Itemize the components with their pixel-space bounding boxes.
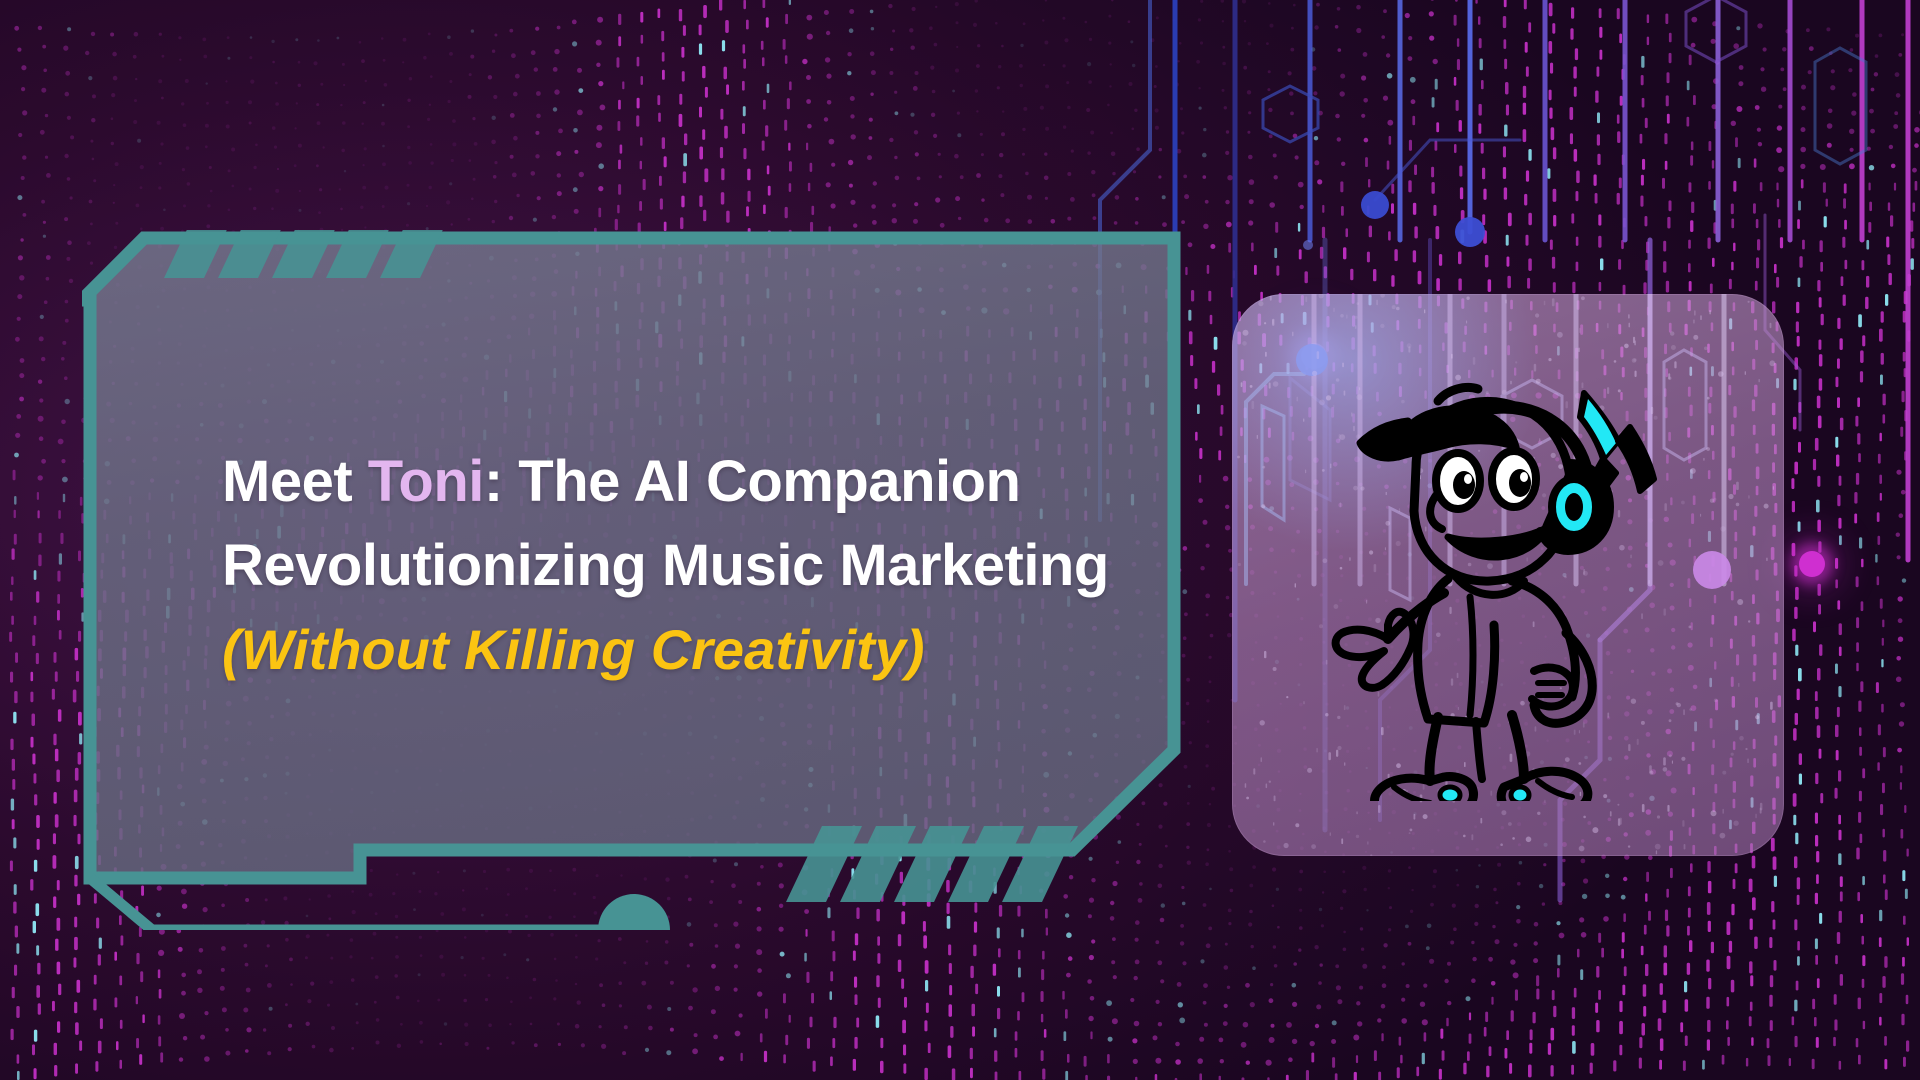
card-speckle bbox=[1330, 832, 1331, 836]
card-speckle bbox=[1295, 583, 1296, 587]
card-speckle bbox=[1628, 845, 1630, 847]
circuit-node bbox=[1361, 191, 1389, 219]
card-speckle bbox=[1260, 720, 1265, 725]
card-speckle bbox=[1262, 466, 1265, 469]
card-speckle bbox=[1656, 850, 1657, 854]
card-speckle bbox=[1505, 300, 1506, 304]
card-speckle bbox=[1770, 323, 1772, 329]
mascot-leg-left bbox=[1429, 717, 1438, 781]
card-speckle bbox=[1694, 310, 1696, 315]
card-speckle bbox=[1265, 352, 1267, 357]
card-speckle bbox=[1745, 748, 1747, 750]
headline-line-2: Revolutionizing Music Marketing bbox=[222, 524, 1182, 608]
card-speckle bbox=[1340, 314, 1344, 318]
card-speckle bbox=[1657, 815, 1660, 818]
card-speckle bbox=[1261, 504, 1265, 508]
card-speckle bbox=[1355, 325, 1356, 329]
card-speckle bbox=[1736, 482, 1739, 490]
card-speckle bbox=[1700, 315, 1702, 320]
circuit-trace bbox=[1375, 140, 1520, 200]
card-speckle bbox=[1617, 804, 1619, 806]
card-speckle bbox=[1423, 814, 1428, 819]
card-speckle bbox=[1711, 810, 1717, 816]
card-speckle bbox=[1766, 558, 1767, 561]
card-speckle bbox=[1764, 504, 1769, 509]
card-speckle bbox=[1243, 330, 1249, 336]
headline-block: Meet Toni: The AI Companion Revolutioniz… bbox=[222, 440, 1182, 692]
card-speckle bbox=[1240, 835, 1242, 840]
card-speckle bbox=[1232, 307, 1234, 314]
card-speckle bbox=[1376, 300, 1378, 306]
card-speckle bbox=[1274, 796, 1276, 802]
card-speckle bbox=[1776, 315, 1781, 320]
card-speckle bbox=[1592, 827, 1598, 833]
card-speckle bbox=[1629, 323, 1631, 328]
card-speckle bbox=[1747, 759, 1749, 764]
card-speckle bbox=[1579, 846, 1585, 852]
card-speckle bbox=[1357, 811, 1358, 814]
card-speckle bbox=[1548, 358, 1551, 361]
card-speckle bbox=[1269, 383, 1271, 389]
card-speckle bbox=[1466, 321, 1467, 324]
card-speckle bbox=[1755, 715, 1759, 719]
card-speckle bbox=[1722, 809, 1724, 814]
shoe-light-right bbox=[1511, 787, 1529, 801]
card-speckle bbox=[1342, 363, 1344, 368]
card-speckle bbox=[1333, 308, 1334, 312]
card-speckle bbox=[1341, 838, 1343, 844]
headline-line1-suffix: : The AI Companion bbox=[484, 449, 1021, 514]
card-speckle bbox=[1500, 843, 1503, 846]
card-speckle bbox=[1273, 667, 1277, 671]
card-speckle bbox=[1378, 805, 1381, 813]
card-speckle bbox=[1305, 297, 1307, 303]
card-speckle bbox=[1501, 810, 1506, 815]
card-speckle bbox=[1241, 382, 1243, 387]
card-speckle bbox=[1655, 844, 1661, 850]
card-speckle bbox=[1409, 832, 1411, 834]
circuit-node bbox=[1455, 217, 1485, 247]
card-speckle bbox=[1245, 783, 1247, 788]
card-speckle bbox=[1579, 328, 1581, 333]
headline-line-3: (Without Killing Creativity) bbox=[222, 608, 1182, 692]
card-speckle bbox=[1257, 435, 1258, 439]
card-speckle bbox=[1557, 332, 1563, 338]
card-speckle bbox=[1583, 816, 1586, 819]
card-speckle bbox=[1451, 354, 1453, 359]
card-speckle bbox=[1266, 784, 1268, 789]
card-speckle bbox=[1515, 361, 1517, 363]
card-speckle bbox=[1737, 599, 1743, 605]
card-speckle bbox=[1739, 736, 1744, 741]
card-speckle bbox=[1642, 804, 1645, 812]
card-speckle bbox=[1466, 297, 1469, 300]
card-speckle bbox=[1770, 702, 1773, 710]
card-speckle bbox=[1733, 821, 1738, 826]
card-speckle bbox=[1760, 808, 1762, 814]
card-speckle bbox=[1238, 309, 1241, 312]
card-speckle bbox=[1237, 456, 1240, 459]
card-speckle bbox=[1246, 797, 1249, 800]
headline-line1-prefix: Meet bbox=[222, 449, 368, 514]
card-speckle bbox=[1238, 563, 1241, 566]
card-speckle bbox=[1709, 310, 1710, 314]
card-speckle bbox=[1736, 503, 1740, 507]
card-speckle bbox=[1759, 379, 1760, 382]
card-speckle bbox=[1473, 357, 1476, 365]
card-speckle bbox=[1722, 771, 1726, 775]
card-speckle bbox=[1718, 371, 1724, 377]
card-speckle bbox=[1773, 486, 1774, 490]
card-speckle bbox=[1769, 360, 1775, 366]
card-speckle bbox=[1624, 344, 1629, 349]
card-speckle bbox=[1252, 401, 1255, 409]
card-speckle bbox=[1273, 381, 1279, 387]
card-speckle bbox=[1250, 385, 1253, 388]
card-speckle bbox=[1693, 335, 1698, 340]
card-speckle bbox=[1273, 822, 1274, 825]
card-speckle bbox=[1632, 358, 1637, 363]
card-speckle bbox=[1628, 314, 1629, 318]
card-speckle bbox=[1704, 347, 1708, 351]
circuit-node bbox=[1303, 240, 1313, 250]
card-speckle bbox=[1463, 835, 1466, 838]
card-speckle bbox=[1671, 345, 1676, 350]
card-speckle bbox=[1535, 313, 1539, 317]
card-speckle bbox=[1745, 371, 1746, 375]
glow-node-magenta bbox=[1799, 551, 1825, 577]
shoe-light-left bbox=[1440, 787, 1460, 801]
card-speckle bbox=[1242, 341, 1247, 346]
card-speckle bbox=[1270, 295, 1272, 301]
card-speckle bbox=[1508, 822, 1512, 826]
card-speckle bbox=[1269, 781, 1271, 783]
card-speckle bbox=[1408, 346, 1410, 352]
card-speckle bbox=[1720, 526, 1726, 532]
headline-line-1: Meet Toni: The AI Companion bbox=[222, 440, 1182, 524]
card-speckle bbox=[1748, 620, 1750, 622]
card-speckle bbox=[1392, 305, 1396, 309]
card-speckle bbox=[1634, 340, 1636, 345]
card-speckle bbox=[1755, 814, 1757, 819]
card-speckle bbox=[1295, 823, 1299, 827]
headline-accent-toni: Toni bbox=[368, 449, 484, 514]
card-speckle bbox=[1607, 323, 1609, 328]
card-speckle bbox=[1544, 301, 1546, 306]
card-speckle bbox=[1292, 332, 1294, 337]
card-speckle bbox=[1537, 812, 1540, 815]
card-speckle bbox=[1258, 301, 1263, 306]
card-speckle bbox=[1356, 835, 1359, 838]
card-speckle bbox=[1738, 683, 1739, 687]
mascot-leg-right bbox=[1512, 715, 1524, 779]
card-speckle bbox=[1367, 841, 1368, 844]
card-speckle bbox=[1693, 320, 1694, 324]
card-speckle bbox=[1684, 844, 1686, 850]
card-speckle bbox=[1263, 840, 1266, 843]
card-speckle bbox=[1526, 837, 1532, 843]
card-speckle bbox=[1731, 753, 1734, 756]
card-speckle bbox=[1354, 316, 1357, 319]
card-speckle bbox=[1512, 837, 1515, 840]
hatch-group-bottom-right bbox=[786, 826, 1078, 902]
card-speckle bbox=[1614, 360, 1617, 363]
card-speckle bbox=[1254, 849, 1256, 854]
card-speckle bbox=[1286, 696, 1288, 698]
card-speckle bbox=[1380, 324, 1384, 328]
card-speckle bbox=[1396, 307, 1400, 311]
hexagon-outline bbox=[1815, 48, 1866, 164]
card-speckle bbox=[1317, 351, 1320, 359]
card-speckle bbox=[1480, 818, 1482, 824]
card-speckle bbox=[1471, 834, 1473, 840]
toni-mascot-illustration bbox=[1298, 371, 1718, 801]
card-speckle bbox=[1414, 814, 1416, 820]
card-speckle bbox=[1682, 820, 1684, 827]
card-speckle bbox=[1346, 315, 1347, 319]
card-speckle bbox=[1670, 331, 1674, 335]
card-speckle bbox=[1728, 494, 1733, 499]
card-speckle bbox=[1552, 298, 1555, 306]
card-speckle bbox=[1620, 818, 1622, 825]
card-speckle bbox=[1272, 320, 1273, 324]
card-speckle bbox=[1264, 651, 1266, 658]
card-speckle bbox=[1264, 322, 1266, 324]
card-speckle bbox=[1284, 843, 1289, 848]
hip-hand bbox=[1532, 668, 1573, 707]
card-speckle bbox=[1253, 768, 1255, 774]
card-speckle bbox=[1424, 309, 1425, 313]
card-speckle bbox=[1578, 348, 1579, 353]
hud-bracket-tail bbox=[90, 878, 602, 930]
card-speckle bbox=[1748, 495, 1749, 498]
card-speckle bbox=[1720, 833, 1726, 839]
card-speckle bbox=[1780, 821, 1781, 824]
card-speckle bbox=[1581, 296, 1585, 300]
card-speckle bbox=[1311, 844, 1316, 849]
card-speckle bbox=[1610, 811, 1612, 816]
card-speckle bbox=[1674, 361, 1676, 368]
card-speckle bbox=[1261, 757, 1263, 762]
hud-node-circle bbox=[598, 894, 670, 930]
hip-arm bbox=[1534, 633, 1592, 723]
card-speckle bbox=[1748, 301, 1750, 303]
mascot-card bbox=[1232, 294, 1784, 856]
card-speckle bbox=[1667, 805, 1669, 812]
card-speckle bbox=[1357, 302, 1360, 305]
banner-stage: Meet Toni: The AI Companion Revolutioniz… bbox=[0, 0, 1920, 1080]
mascot-smile bbox=[1448, 527, 1548, 557]
card-speckle bbox=[1410, 829, 1413, 832]
